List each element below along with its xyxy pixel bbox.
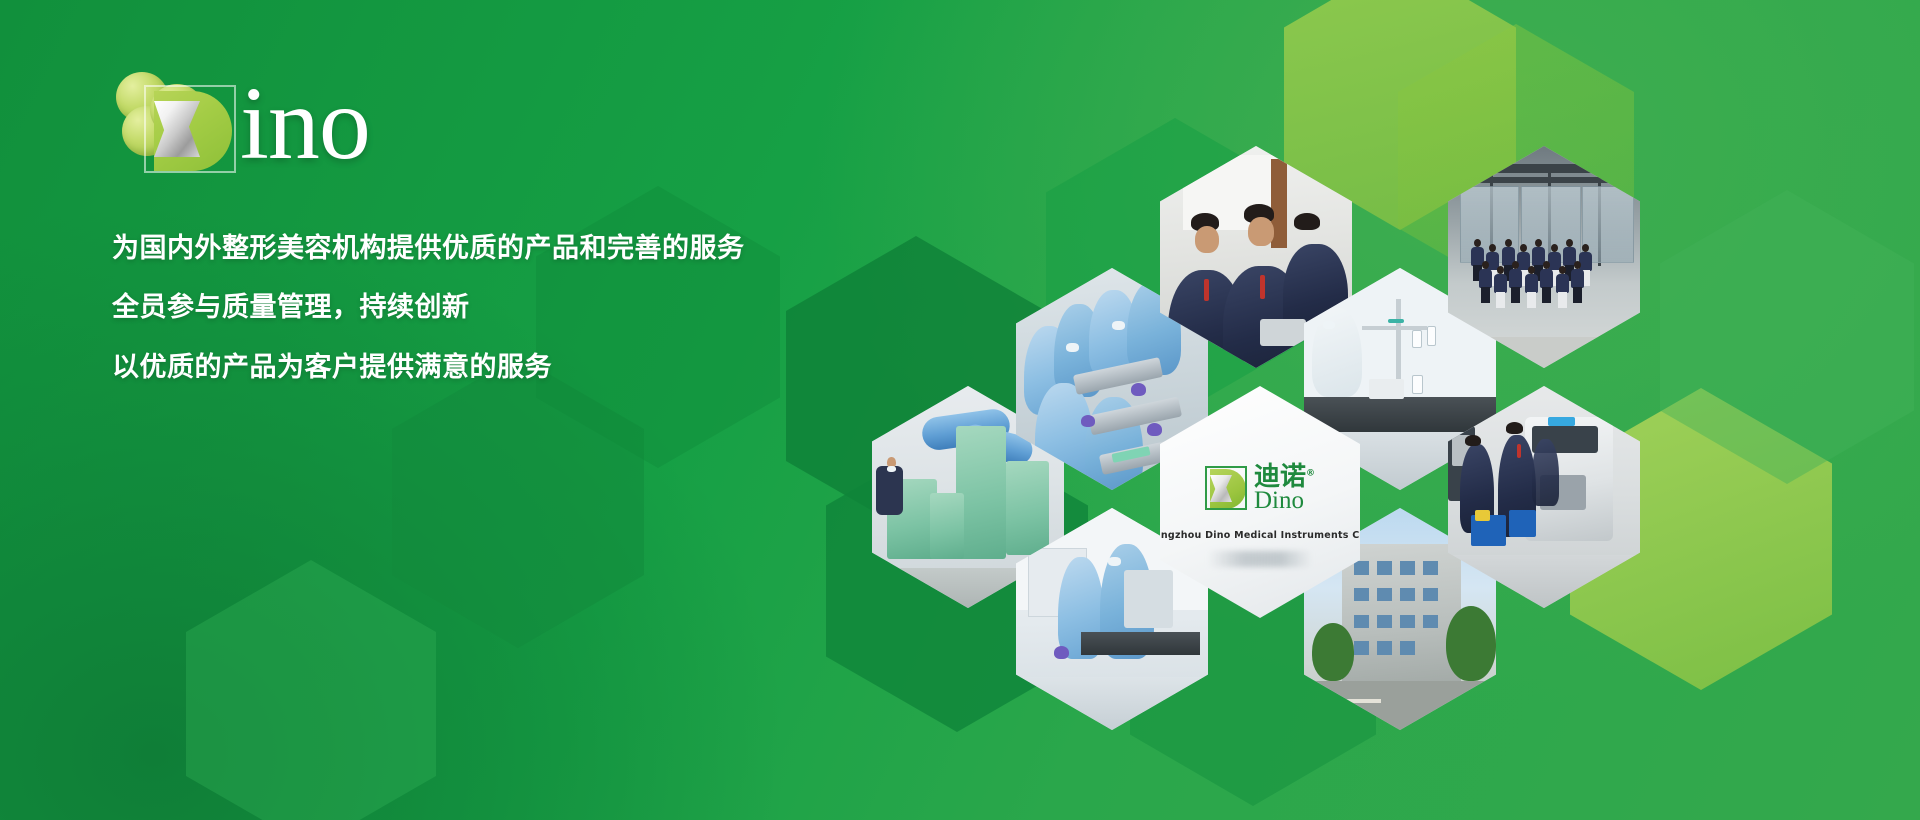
tagline-3: 以优质的产品为客户提供满意的服务 (112, 354, 872, 382)
center-badge-caption: Hangzhou Dino Medical Instruments Co.. (1160, 530, 1360, 541)
center-badge-logo: 迪诺® Dino (1205, 464, 1315, 513)
tagline-1: 为国内外整形美容机构提供优质的产品和完善的服务 (112, 235, 872, 263)
logo-d-mark-icon (144, 85, 236, 173)
tagline-list: 为国内外整形美容机构提供优质的产品和完善的服务 全员参与质量管理，持续创新 以优… (112, 235, 872, 382)
logo-wordmark: ino (240, 72, 370, 176)
dino-leaf-mark-icon (1205, 466, 1247, 510)
dino-logo: ino (112, 68, 442, 173)
badge-reflection (1208, 551, 1312, 567)
registered-trademark-icon: ® (1306, 468, 1315, 478)
hexagon-photo-cluster: 迪诺® Dino Hangzhou Dino Medical Instrumen… (830, 110, 1920, 710)
bg-hexagon-light-lowleft (186, 560, 436, 820)
hero-text-column: ino 为国内外整形美容机构提供优质的产品和完善的服务 全员参与质量管理，持续创… (112, 68, 872, 413)
center-badge-cn-name: 迪诺® (1254, 464, 1315, 490)
hero-banner: ino 为国内外整形美容机构提供优质的产品和完善的服务 全员参与质量管理，持续创… (0, 0, 1920, 820)
tagline-2: 全员参与质量管理，持续创新 (112, 294, 872, 322)
